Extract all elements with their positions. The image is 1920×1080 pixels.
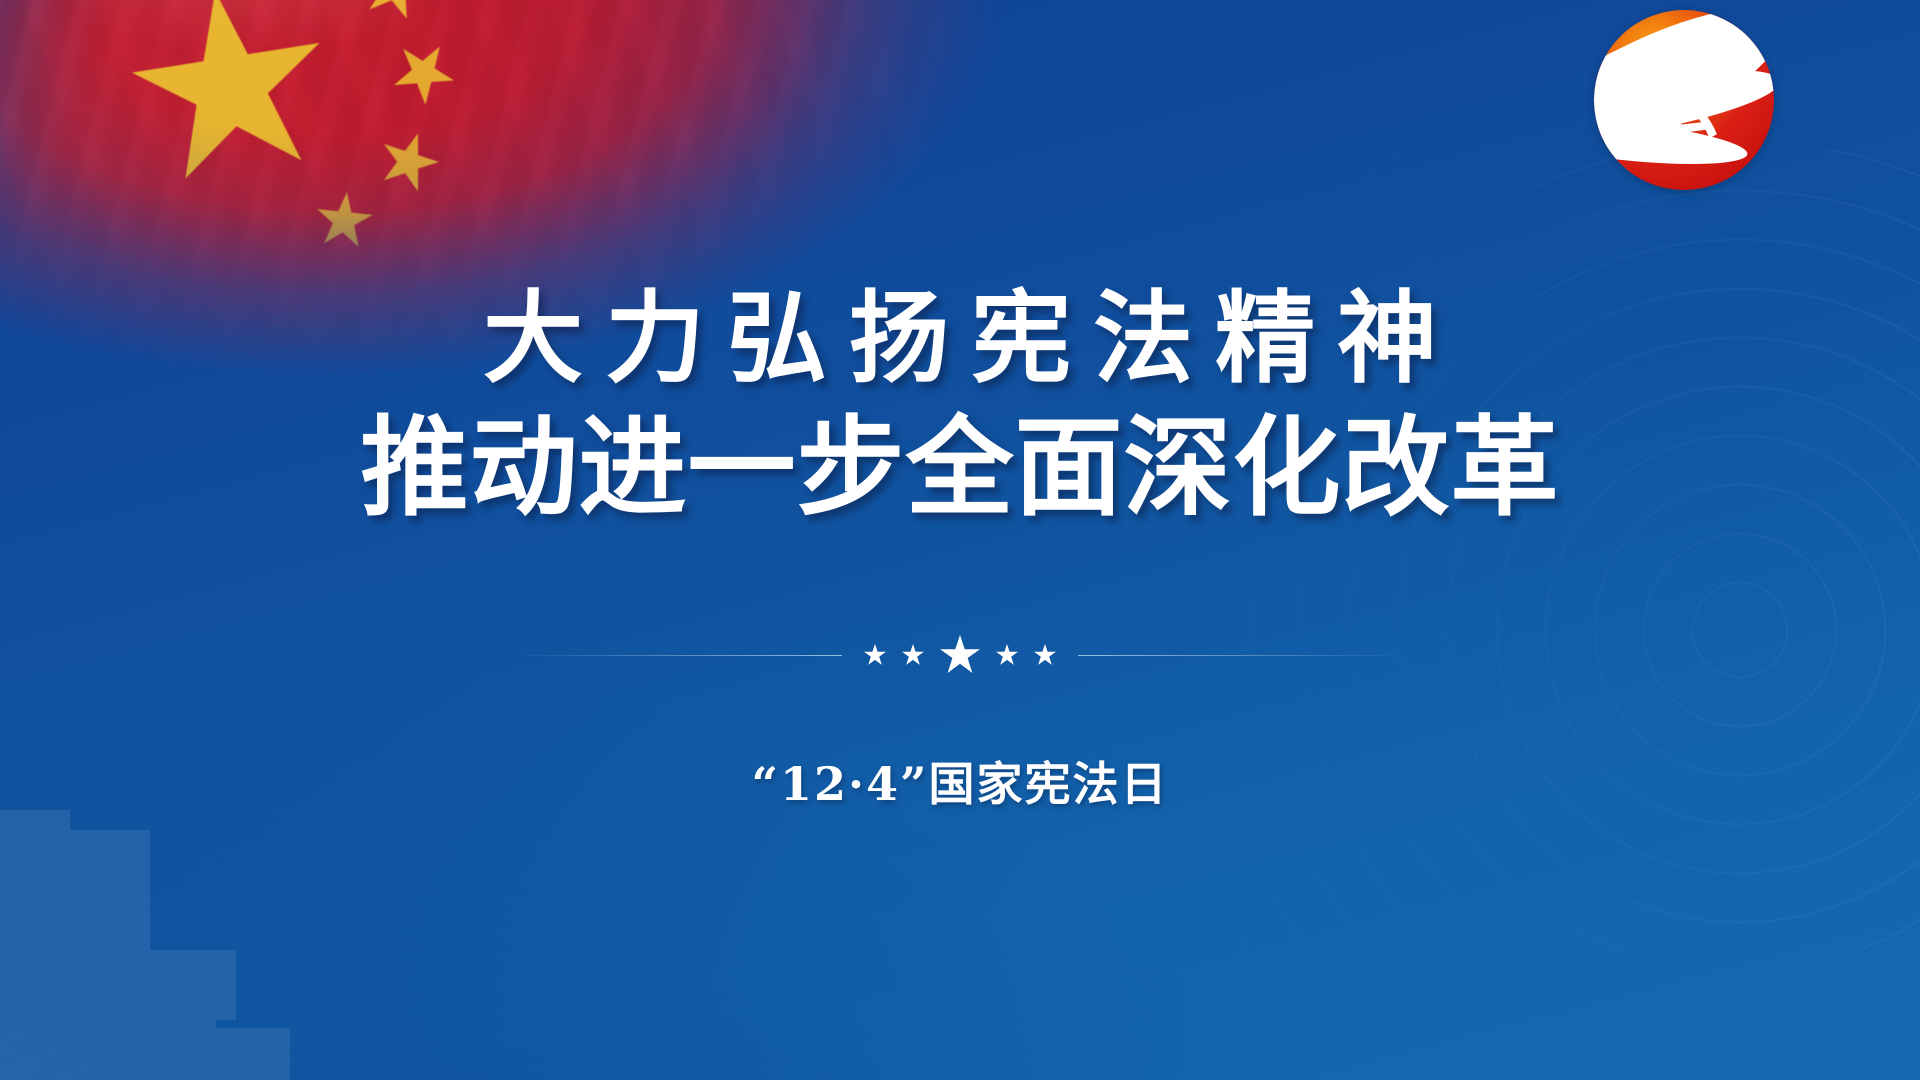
star-divider [0, 632, 1920, 678]
topographic-texture [1020, 150, 1920, 950]
headline-block: 大力弘扬宪法精神 推动进一步全面深化改革 [0, 280, 1920, 530]
divider-star-4-icon [996, 644, 1018, 666]
subtitle-text: “12·4”国家宪法日 [0, 748, 1920, 814]
emblem-circle: 法 12·4 [1594, 10, 1774, 190]
divider-star-1-icon [864, 644, 886, 666]
divider-rule-right [1078, 655, 1408, 656]
emblem-fa-character: 法 [1640, 65, 1758, 141]
divider-star-5-icon [1034, 644, 1056, 666]
headline-line-1: 大力弘扬宪法精神 [0, 280, 1920, 398]
poster-canvas: 法 12·4 大力弘扬宪法精神 推动进一步全面深化改革 “12·4”国家宪法日 [0, 0, 1920, 1080]
divider-star-group [864, 635, 1056, 675]
divider-rule-left [512, 655, 842, 656]
constitution-day-emblem[interactable]: 法 12·4 [1594, 10, 1774, 190]
map-silhouette-texture [0, 680, 430, 1080]
emblem-date-label: 12·4 [1594, 136, 1766, 165]
headline-line-2: 推动进一步全面深化改革 [0, 408, 1920, 530]
divider-star-2-icon [902, 644, 924, 666]
divider-star-3-icon [940, 635, 980, 675]
